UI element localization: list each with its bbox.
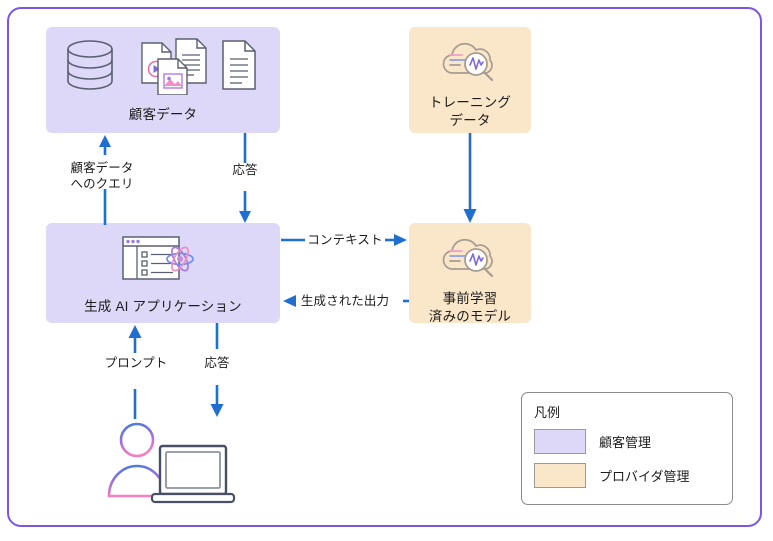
database-and-documents-icon	[58, 37, 268, 100]
app-window-atom-icon	[122, 233, 204, 290]
node-training-data-label: トレーニング データ	[429, 94, 511, 130]
node-pretrained-model-label: 事前学習 済みのモデル	[429, 290, 511, 326]
edge-label-response-to-user: 応答	[185, 355, 249, 371]
edge-label-generated-output: 生成された出力	[293, 293, 397, 309]
edge-label-query-to-customer-data: 顧客データ へのクエリ	[52, 160, 152, 193]
legend-item-customer-managed: 顧客管理	[534, 429, 651, 454]
person-with-laptop-icon	[105, 418, 250, 510]
cloud-analytics-search-icon	[437, 37, 503, 90]
edge-label-context: コンテキスト	[299, 232, 391, 248]
edge-label-response-from-customer-data: 応答	[210, 162, 280, 178]
node-genai-app-label: 生成 AI アプリケーション	[84, 298, 242, 316]
legend-title: 凡例	[534, 402, 560, 421]
legend-item-provider-managed: プロバイダ管理	[534, 463, 689, 488]
legend-swatch-provider-managed	[534, 463, 586, 488]
arrow-training-data-to-model	[457, 133, 483, 225]
legend-label-customer-managed: 顧客管理	[599, 432, 651, 451]
legend-label-provider-managed: プロバイダ管理	[599, 466, 689, 485]
arrow-response-from-customer-data	[232, 133, 258, 225]
legend: 凡例 顧客管理 プロバイダ管理	[521, 392, 733, 505]
node-pretrained-model[interactable]: 事前学習 済みのモデル	[409, 223, 531, 323]
node-customer-data-label: 顧客データ	[129, 106, 198, 124]
node-genai-app[interactable]: 生成 AI アプリケーション	[46, 223, 280, 323]
cloud-analytics-search-icon	[437, 233, 503, 286]
legend-swatch-customer-managed	[534, 429, 586, 454]
edge-label-prompt: プロンプト	[95, 355, 177, 371]
diagram-canvas: 顧客データ トレーニング データ	[0, 0, 773, 541]
node-customer-data[interactable]: 顧客データ	[46, 27, 280, 133]
node-training-data[interactable]: トレーニング データ	[409, 27, 531, 133]
